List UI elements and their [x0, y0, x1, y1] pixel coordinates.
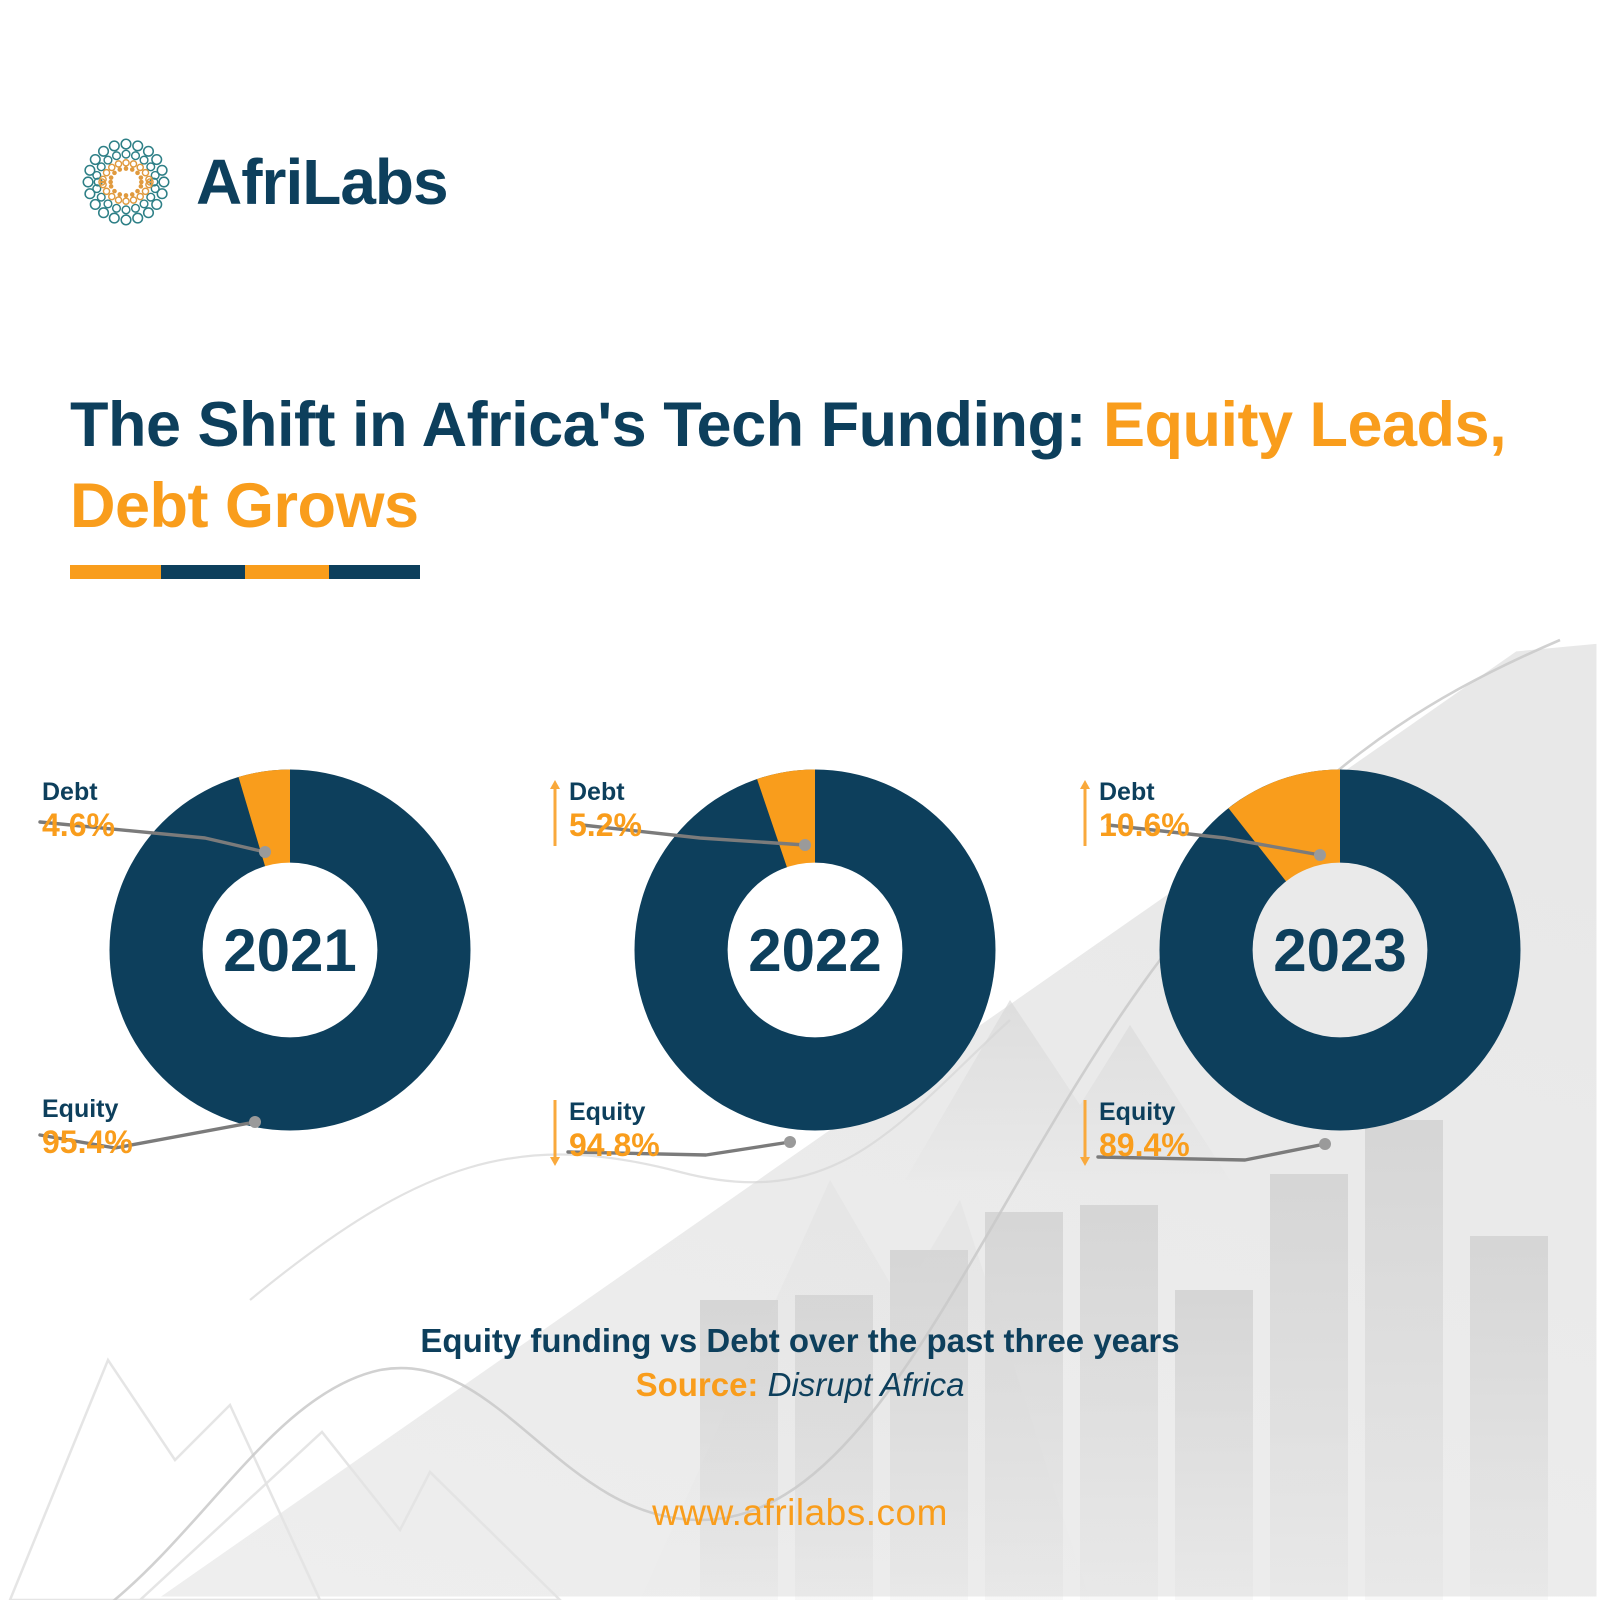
- trend-down-arrow-equity-2023: [1078, 1098, 1092, 1168]
- callout-value-debt-2021: 4.6%: [42, 808, 115, 844]
- chart-caption: Equity funding vs Debt over the past thr…: [0, 1322, 1600, 1360]
- donut-year-2021: 2021: [100, 760, 480, 1140]
- callout-label-debt-2023: Debt: [1099, 778, 1190, 806]
- divider-segment-2: [161, 565, 245, 579]
- donut-chart-row: 2021 2022: [0, 760, 1600, 1190]
- callout-value-equity-2021: 95.4%: [42, 1125, 133, 1161]
- callout-label-equity-2021: Equity: [42, 1095, 133, 1123]
- callout-debt-2022: Debt 5.2%: [548, 778, 642, 848]
- source-label: Source:: [636, 1366, 759, 1403]
- donut-chart-2021: 2021: [100, 760, 480, 1140]
- donut-year-2023: 2023: [1150, 760, 1530, 1140]
- brand-logo[interactable]: AfriLabs: [78, 134, 448, 230]
- callout-equity-2021: Equity 95.4%: [42, 1095, 133, 1161]
- callout-value-debt-2023: 10.6%: [1099, 808, 1190, 844]
- source-value: Disrupt Africa: [768, 1366, 965, 1403]
- title-part-navy: The Shift in Africa's Tech Funding:: [70, 390, 1103, 460]
- title-divider: [70, 565, 420, 579]
- infographic-canvas: AfriLabs The Shift in Africa's Tech Fund…: [0, 0, 1600, 1600]
- callout-debt-2023: Debt 10.6%: [1078, 778, 1190, 848]
- donut-chart-2022: 2022: [625, 760, 1005, 1140]
- source-line: Source: Disrupt Africa: [0, 1366, 1600, 1404]
- callout-label-debt-2021: Debt: [42, 778, 115, 806]
- afrilabs-mandala-logo-icon: [78, 134, 174, 230]
- callout-label-equity-2022: Equity: [569, 1098, 660, 1126]
- page-title: The Shift in Africa's Tech Funding: Equi…: [70, 385, 1530, 546]
- donut-year-2022: 2022: [625, 760, 1005, 1140]
- callout-value-equity-2022: 94.8%: [569, 1128, 660, 1164]
- headline-block: The Shift in Africa's Tech Funding: Equi…: [70, 385, 1530, 546]
- website-url[interactable]: www.afrilabs.com: [0, 1492, 1600, 1534]
- footer-caption-block: Equity funding vs Debt over the past thr…: [0, 1322, 1600, 1404]
- divider-segment-1: [70, 565, 161, 579]
- trend-up-arrow-debt-2022: [548, 778, 562, 848]
- divider-segment-4: [329, 565, 420, 579]
- callout-equity-2023: Equity 89.4%: [1078, 1098, 1190, 1168]
- callout-value-debt-2022: 5.2%: [569, 808, 642, 844]
- donut-chart-2023: 2023: [1150, 760, 1530, 1140]
- callout-debt-2021: Debt 4.6%: [42, 778, 115, 844]
- callout-label-debt-2022: Debt: [569, 778, 642, 806]
- brand-name: AfriLabs: [196, 150, 448, 214]
- callout-value-equity-2023: 89.4%: [1099, 1128, 1190, 1164]
- callout-equity-2022: Equity 94.8%: [548, 1098, 660, 1168]
- trend-up-arrow-debt-2023: [1078, 778, 1092, 848]
- callout-label-equity-2023: Equity: [1099, 1098, 1190, 1126]
- divider-segment-3: [245, 565, 329, 579]
- trend-down-arrow-equity-2022: [548, 1098, 562, 1168]
